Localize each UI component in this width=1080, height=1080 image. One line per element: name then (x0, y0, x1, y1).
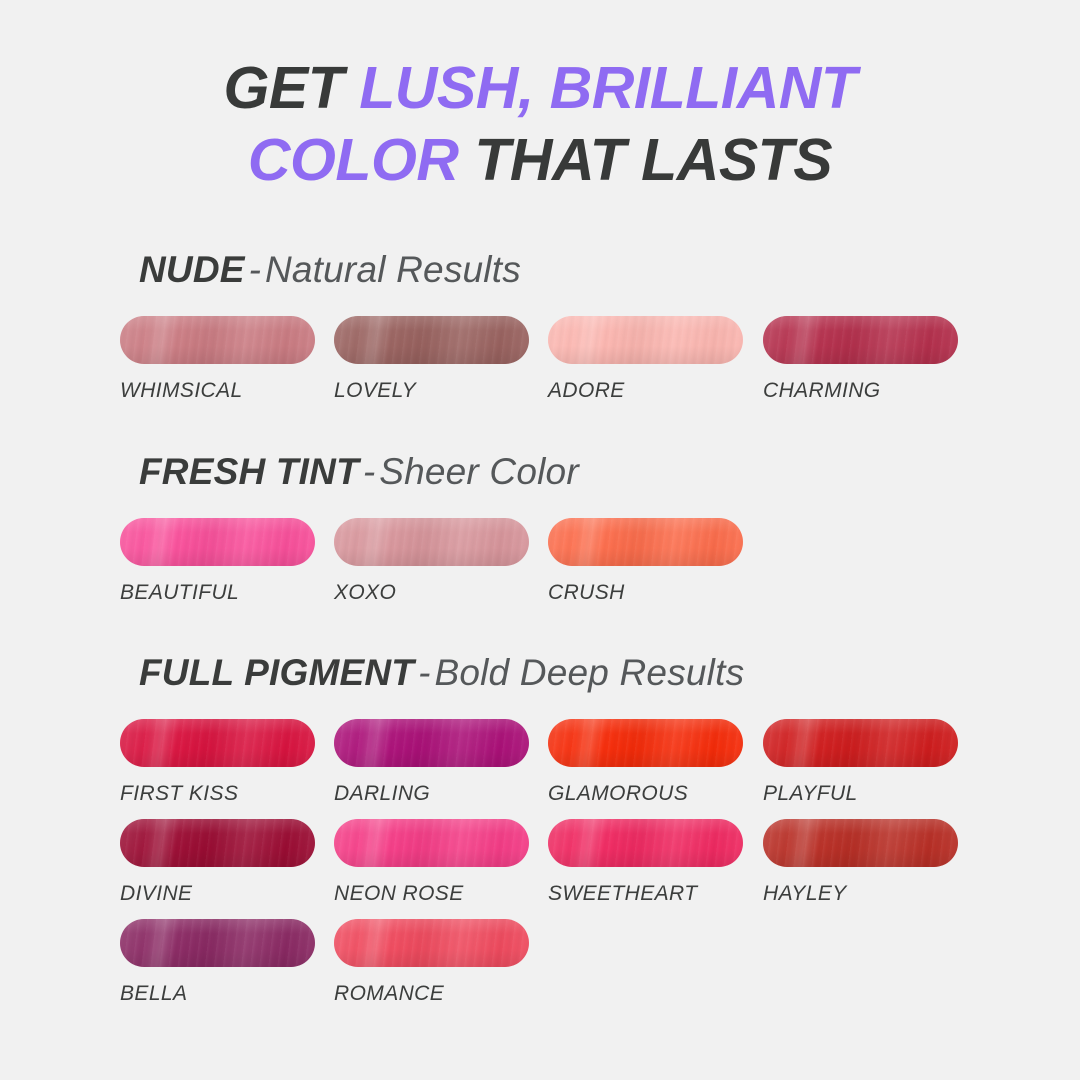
swatch-color-lovely[interactable] (334, 316, 529, 364)
swatch-cell-romance[interactable]: ROMANCE (334, 919, 548, 1005)
swatch-label-neon-rose: NEON ROSE (334, 883, 548, 905)
swatch-color-crush[interactable] (548, 518, 743, 566)
swatch-label-hayley: HAYLEY (763, 883, 977, 905)
swatch-color-playful[interactable] (763, 719, 958, 767)
swatch-color-adore[interactable] (548, 316, 743, 364)
section-title-dash: - (245, 249, 265, 290)
swatch-label-darling: DARLING (334, 783, 548, 805)
swatch-cell-hayley[interactable]: HAYLEY (763, 819, 977, 905)
swatch-cell-neon-rose[interactable]: NEON ROSE (334, 819, 548, 905)
swatch-cell-darling[interactable]: DARLING (334, 719, 548, 805)
headline-line-2: COLOR THAT LASTS (0, 124, 1080, 196)
section-fresh-tint: FRESH TINT-Sheer Color BEAUTIFUL XOXO CR… (0, 450, 1080, 618)
swatch-label-charming: CHARMING (763, 380, 977, 402)
swatch-cell-charming[interactable]: CHARMING (763, 316, 977, 402)
headline-line1-accent: LUSH, BRILLIANT (359, 55, 856, 121)
section-title-dash: - (414, 652, 434, 693)
section-title-dash: - (359, 451, 379, 492)
swatch-label-xoxo: XOXO (334, 582, 548, 604)
section-title-sub: Bold Deep Results (434, 652, 744, 693)
headline-line1-part1: GET (224, 55, 360, 121)
swatch-color-first-kiss[interactable] (120, 719, 315, 767)
section-title-full-pigment: FULL PIGMENT-Bold Deep Results (139, 651, 1080, 695)
headline-line2-accent: COLOR (248, 127, 459, 193)
swatch-color-divine[interactable] (120, 819, 315, 867)
swatch-color-xoxo[interactable] (334, 518, 529, 566)
swatch-cell-glamorous[interactable]: GLAMOROUS (548, 719, 762, 805)
section-title-fresh-tint: FRESH TINT-Sheer Color (139, 450, 1080, 494)
swatch-cell-first-kiss[interactable]: FIRST KISS (120, 719, 334, 805)
swatch-color-charming[interactable] (763, 316, 958, 364)
section-full-pigment: FULL PIGMENT-Bold Deep Results FIRST KIS… (0, 651, 1080, 1019)
swatch-label-beautiful: BEAUTIFUL (120, 582, 334, 604)
swatch-color-romance[interactable] (334, 919, 529, 967)
swatch-row: WHIMSICAL LOVELY ADORE CHARMING (120, 316, 1080, 416)
swatch-label-romance: ROMANCE (334, 983, 548, 1005)
headline-line2-part2: THAT LASTS (458, 127, 832, 193)
swatch-cell-playful[interactable]: PLAYFUL (763, 719, 977, 805)
swatch-label-first-kiss: FIRST KISS (120, 783, 334, 805)
swatch-cell-xoxo[interactable]: XOXO (334, 518, 548, 604)
swatch-row: BELLA ROMANCE (120, 919, 1080, 1019)
swatch-label-sweetheart: SWEETHEART (548, 883, 762, 905)
product-shade-chart: GET LUSH, BRILLIANT COLOR THAT LASTS NUD… (0, 0, 1080, 1080)
swatch-color-whimsical[interactable] (120, 316, 315, 364)
section-title-strong: NUDE (139, 249, 245, 290)
section-title-strong: FRESH TINT (139, 451, 359, 492)
swatch-label-crush: CRUSH (548, 582, 762, 604)
swatch-row: DIVINE NEON ROSE SWEETHEART HAYLEY (120, 819, 1080, 919)
swatch-color-beautiful[interactable] (120, 518, 315, 566)
swatch-label-playful: PLAYFUL (763, 783, 977, 805)
swatch-label-glamorous: GLAMOROUS (548, 783, 762, 805)
swatch-color-darling[interactable] (334, 719, 529, 767)
swatch-color-neon-rose[interactable] (334, 819, 529, 867)
swatch-color-bella[interactable] (120, 919, 315, 967)
section-title-sub: Natural Results (265, 249, 521, 290)
swatch-color-glamorous[interactable] (548, 719, 743, 767)
swatch-label-whimsical: WHIMSICAL (120, 380, 334, 402)
swatch-cell-crush[interactable]: CRUSH (548, 518, 762, 604)
swatch-label-bella: BELLA (120, 983, 334, 1005)
section-title-sub: Sheer Color (379, 451, 579, 492)
section-nude: NUDE-Natural Results WHIMSICAL LOVELY AD… (0, 248, 1080, 416)
swatch-row: FIRST KISS DARLING GLAMOROUS PLAYFUL (120, 719, 1080, 819)
swatch-label-lovely: LOVELY (334, 380, 548, 402)
swatch-cell-adore[interactable]: ADORE (548, 316, 762, 402)
swatch-label-divine: DIVINE (120, 883, 334, 905)
page-headline: GET LUSH, BRILLIANT COLOR THAT LASTS (0, 52, 1080, 196)
swatch-cell-whimsical[interactable]: WHIMSICAL (120, 316, 334, 402)
headline-line-1: GET LUSH, BRILLIANT (0, 52, 1080, 124)
swatch-cell-bella[interactable]: BELLA (120, 919, 334, 1005)
swatch-color-hayley[interactable] (763, 819, 958, 867)
section-title-strong: FULL PIGMENT (139, 652, 414, 693)
swatch-cell-beautiful[interactable]: BEAUTIFUL (120, 518, 334, 604)
swatch-cell-lovely[interactable]: LOVELY (334, 316, 548, 402)
section-title-nude: NUDE-Natural Results (139, 248, 1080, 292)
swatch-cell-divine[interactable]: DIVINE (120, 819, 334, 905)
swatch-color-sweetheart[interactable] (548, 819, 743, 867)
swatch-label-adore: ADORE (548, 380, 762, 402)
swatch-cell-sweetheart[interactable]: SWEETHEART (548, 819, 762, 905)
swatch-row: BEAUTIFUL XOXO CRUSH (120, 518, 1080, 618)
